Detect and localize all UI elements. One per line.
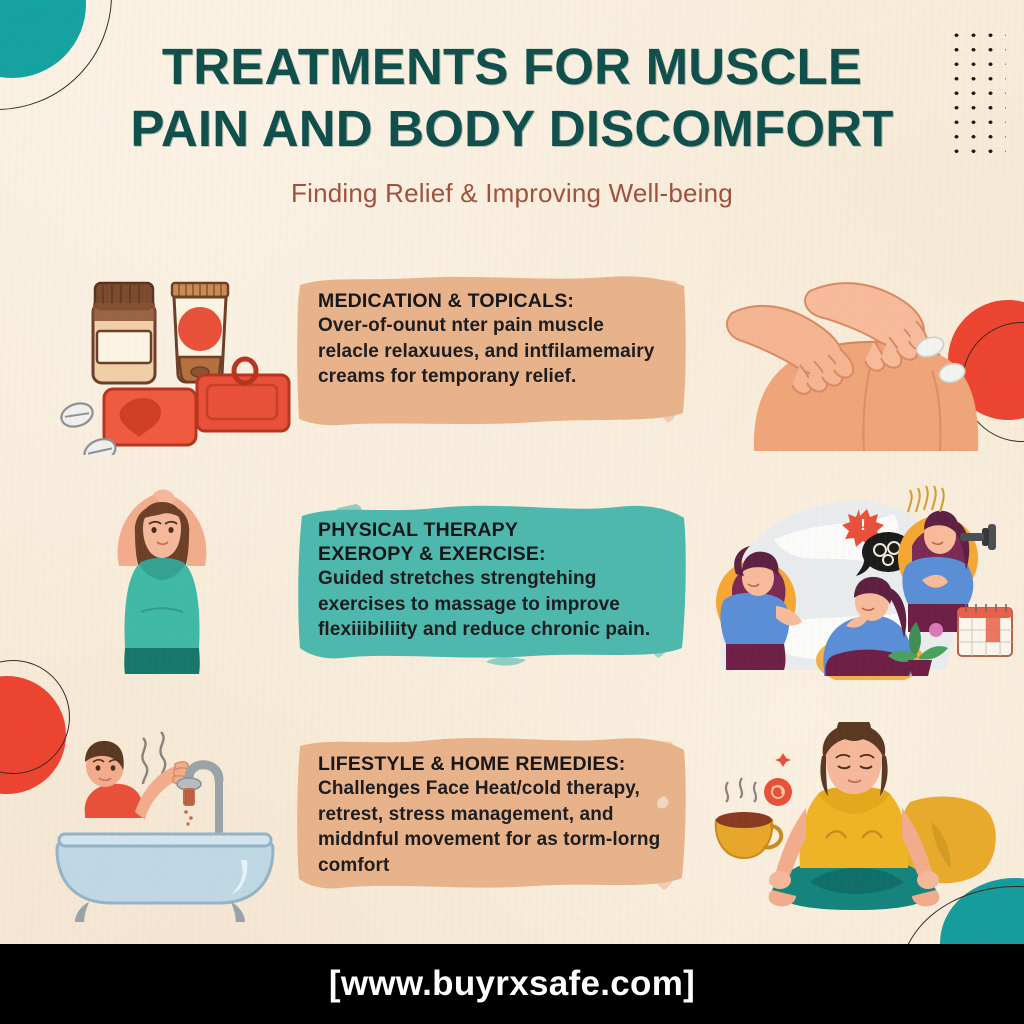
woman-stretching-illustration [55, 480, 300, 680]
section-physical-therapy: PHYSICAL THERAPY EXEROPY & EXERCISE: Gui… [0, 480, 1024, 680]
section-body: Over-of-ounut nter pain muscle relacle r… [318, 313, 662, 390]
section-body: Guided stretches strengtehing exercises … [318, 566, 662, 643]
page-title-line-2: PAIN AND BODY DISCOMFORT [0, 98, 1024, 160]
bathtub-relaxation-illustration [55, 722, 300, 922]
section-heading: LIFESTYLE & HOME REMEDIES: [318, 752, 662, 776]
infographic-poster: TREATMENTS FOR MUSCLE PAIN AND BODY DISC… [0, 0, 1024, 1024]
meditation-illustration [714, 722, 1014, 922]
section-heading: MEDICATION & TOPICALS: [318, 289, 662, 313]
lifestyle-text-panel: LIFESTYLE & HOME REMEDIES: Challenges Fa… [296, 736, 688, 898]
footer-bar: [www.buyrxsafe.com] [0, 944, 1024, 1024]
physical-therapy-text-panel: PHYSICAL THERAPY EXEROPY & EXERCISE: Gui… [296, 502, 688, 670]
medication-supplies-illustration [55, 255, 300, 455]
medication-text-panel: MEDICATION & TOPICALS: Over-of-ounut nte… [296, 273, 688, 431]
therapy-group-collage-illustration: ! [714, 480, 1014, 680]
section-heading-line-2: EXEROPY & EXERCISE: [318, 542, 662, 566]
svg-text:!: ! [860, 517, 865, 534]
section-lifestyle: LIFESTYLE & HOME REMEDIES: Challenges Fa… [0, 722, 1024, 922]
poster-header: TREATMENTS FOR MUSCLE PAIN AND BODY DISC… [0, 36, 1024, 209]
section-medication: MEDICATION & TOPICALS: Over-of-ounut nte… [0, 255, 1024, 455]
page-subtitle: Finding Relief & Improving Well-being [0, 178, 1024, 209]
page-title-line-1: TREATMENTS FOR MUSCLE [0, 36, 1024, 98]
footer-website-url[interactable]: [www.buyrxsafe.com] [329, 964, 695, 1004]
back-massage-illustration [714, 255, 1014, 455]
section-heading-line-1: PHYSICAL THERAPY [318, 518, 662, 542]
section-body: Challenges Face Heat/cold therapy, retre… [318, 776, 662, 878]
